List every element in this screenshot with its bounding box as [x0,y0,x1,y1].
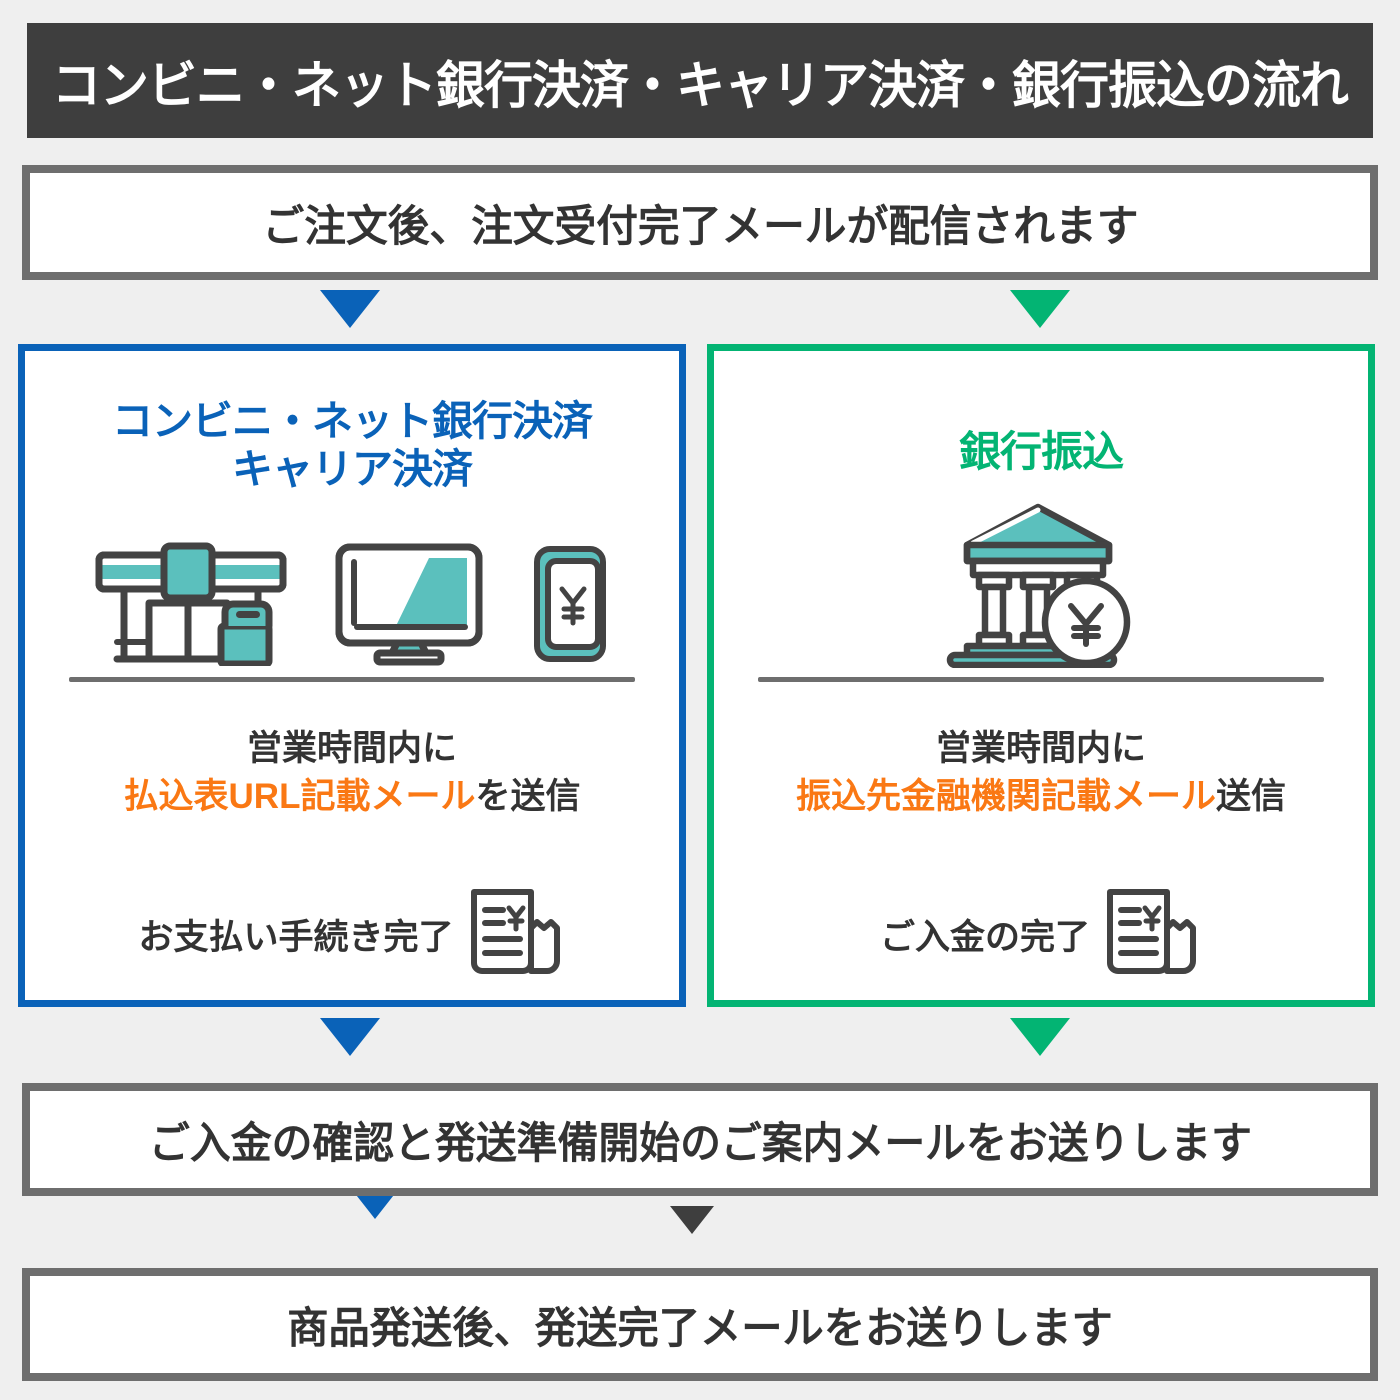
bank-complete-label: ご入金の完了 [880,909,1090,960]
step-payment-confirmation: ご入金の確認と発送準備開始のご案内メールをお送りします [22,1083,1378,1196]
page-title: コンビニ・ネット銀行決済・キャリア決済・銀行振込の流れ [27,23,1373,138]
panel-bank-transfer: 銀行振込 [707,344,1375,1007]
bank-divider [758,677,1324,682]
bank-building-yen-icon [943,502,1139,673]
bank-notice-highlight: 振込先金融機関記載メール [796,777,1216,816]
step-order-confirmation: ご注文後、注文受付完了メールが配信されます [22,165,1378,280]
bank-icon-row [714,503,1368,673]
convenience-store-icon [91,541,291,671]
step-order-confirmation-text: ご注文後、注文受付完了メールが配信されます [262,192,1138,254]
panel-bank-heading: 銀行振込 [714,427,1368,477]
convenience-divider [69,677,635,682]
convenience-notice-highlight: 払込表URL記載メール [124,777,476,816]
panel-convenience-heading: コンビニ・ネット銀行決済 キャリア決済 [25,397,679,494]
step-shipping-notification-text: 商品発送後、発送完了メールをお送りします [287,1294,1113,1356]
convenience-complete-label: お支払い手続き完了 [138,909,453,960]
page-title-text: コンビニ・ネット銀行決済・キャリア決済・銀行振込の流れ [52,44,1348,118]
convenience-notice: 営業時間内に 払込表URL記載メールを送信 [25,725,679,822]
down-arrow-dark-final [670,1206,714,1234]
bank-notice-suffix: 送信 [1216,777,1286,816]
flow-diagram: コンビニ・ネット銀行決済・キャリア決済・銀行振込の流れ ご注文後、注文受付完了メ… [0,0,1400,1400]
step-payment-confirmation-text: ご入金の確認と発送準備開始のご案内メールをお送りします [149,1109,1252,1171]
invoice-yen-icon [462,884,566,985]
down-arrow-blue-top [320,290,380,328]
convenience-icon-row [25,531,679,671]
step-shipping-notification: 商品発送後、発送完了メールをお送りします [22,1268,1378,1381]
bank-notice: 営業時間内に 振込先金融機関記載メール送信 [714,725,1368,822]
panel-convenience-heading-line2: キャリア決済 [25,445,679,493]
smartphone-yen-icon [527,541,613,671]
panel-convenience-heading-line1: コンビニ・ネット銀行決済 [25,397,679,445]
convenience-complete-row: お支払い手続き完了 [25,884,679,985]
bank-notice-line1: 営業時間内に [714,725,1368,773]
down-arrow-green-bottom [1010,1018,1070,1056]
down-arrow-blue-bottom [320,1018,380,1056]
convenience-notice-line1: 営業時間内に [25,725,679,773]
bank-complete-row: ご入金の完了 [714,884,1368,985]
invoice-yen-icon [1098,884,1202,985]
down-arrow-green-top [1010,290,1070,328]
convenience-notice-line2: 払込表URL記載メールを送信 [25,773,679,821]
bank-notice-line2: 振込先金融機関記載メール送信 [714,773,1368,821]
panel-convenience-payment: コンビニ・ネット銀行決済 キャリア決済 [18,344,686,1007]
desktop-monitor-icon [333,541,485,671]
convenience-notice-suffix: を送信 [475,777,580,816]
panel-bank-heading-line1: 銀行振込 [714,427,1368,477]
